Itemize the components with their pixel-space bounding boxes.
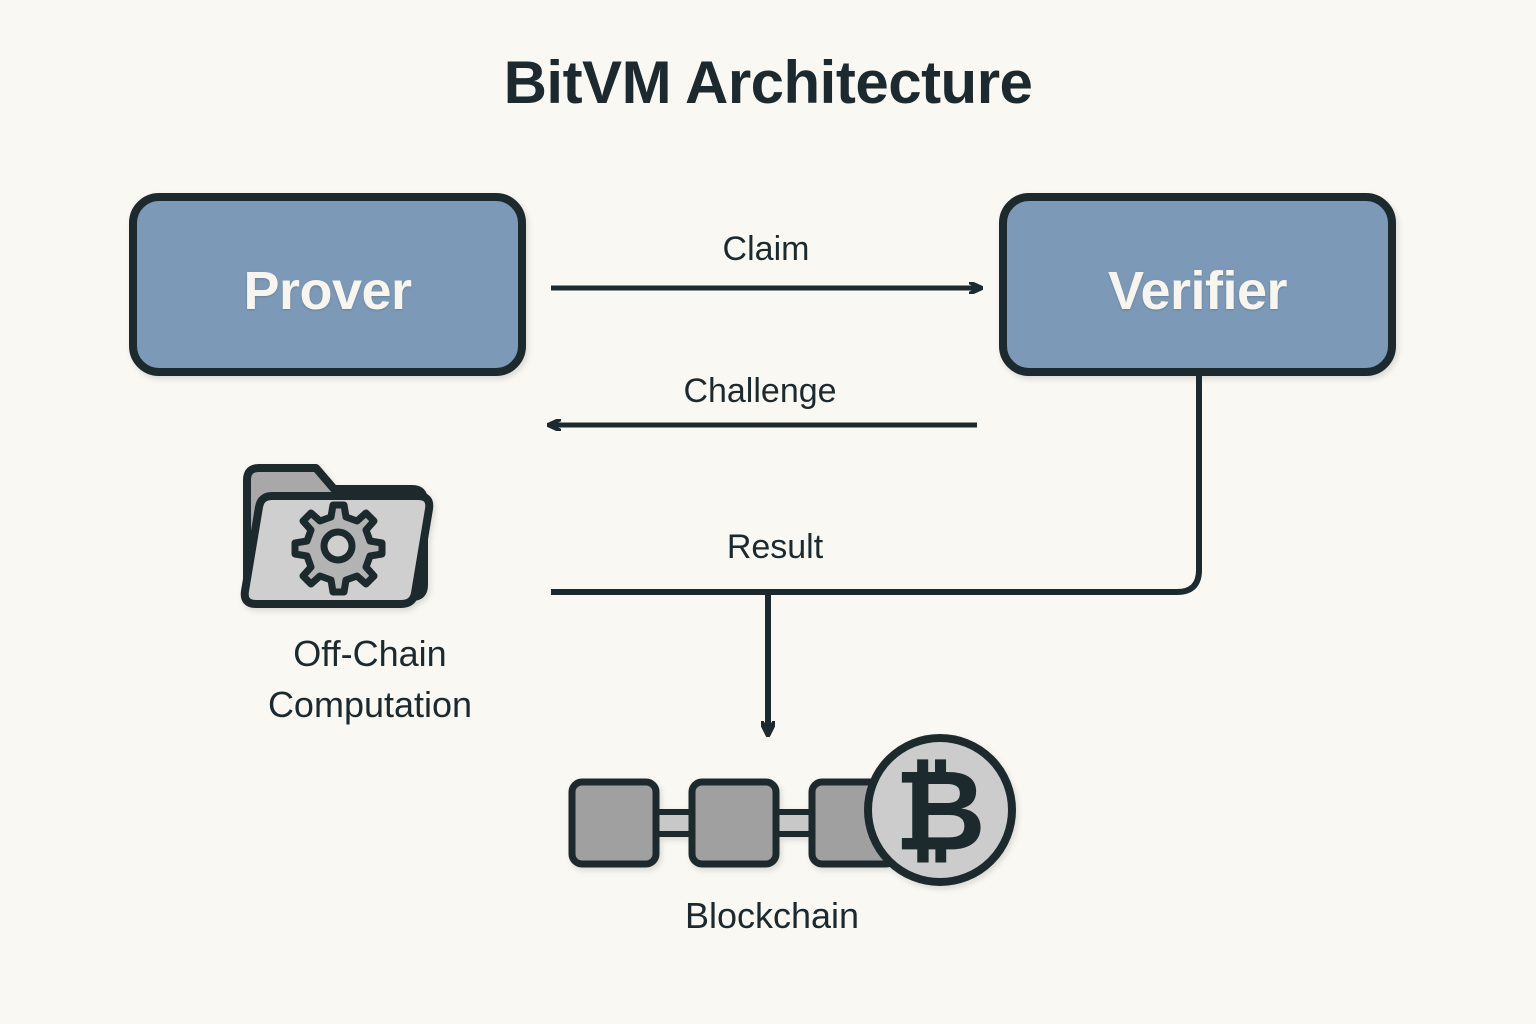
off-chain-caption-line1: Off-Chain — [155, 628, 585, 679]
bitcoin-coin-icon: ₿ — [868, 738, 1012, 882]
diagram-canvas: BitVM Architecture — [0, 0, 1536, 1024]
gear-icon — [295, 505, 382, 592]
folder-gear-icon — [245, 468, 430, 604]
svg-text:₿: ₿ — [894, 749, 985, 874]
diagram-graphics: ₿ — [0, 0, 1536, 1024]
blockchain-block — [572, 782, 656, 864]
edge-label-claim: Claim — [606, 230, 926, 269]
blockchain-caption: Blockchain — [548, 890, 996, 941]
blockchain-bitcoin-icon: ₿ — [572, 738, 1012, 882]
edge-label-result: Result — [615, 528, 935, 567]
edge-label-challenge: Challenge — [600, 372, 920, 411]
node-verifier[interactable] — [1003, 197, 1392, 372]
blockchain-block — [692, 782, 776, 864]
off-chain-caption-line2: Computation — [155, 679, 585, 730]
off-chain-caption: Off-Chain Computation — [155, 628, 585, 730]
node-prover[interactable] — [133, 197, 522, 372]
